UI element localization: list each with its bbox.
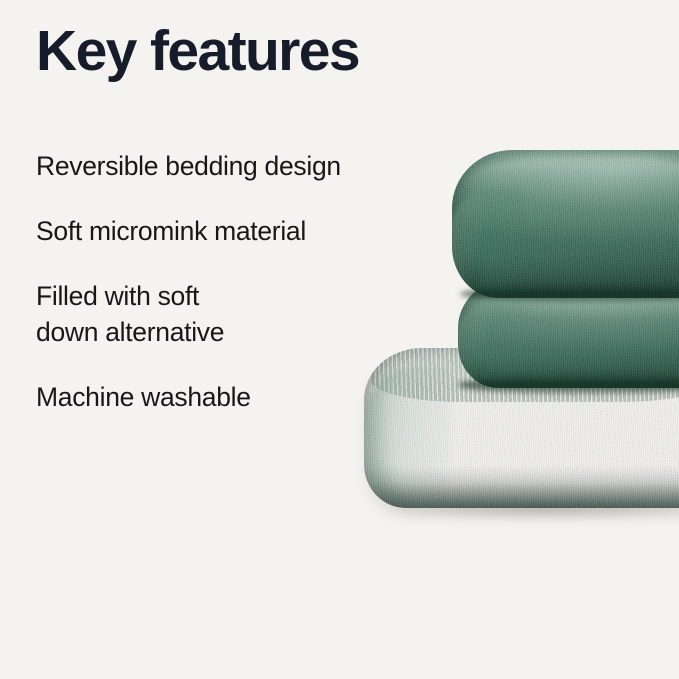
feature-item: Reversible bedding design — [36, 148, 436, 184]
key-features-infographic: Key features Reversible bedding design S… — [0, 0, 679, 679]
feature-line: Filled with soft — [36, 278, 436, 314]
bottom-shading — [364, 466, 679, 508]
feature-line: Machine washable — [36, 379, 436, 415]
fold-left-edge — [452, 188, 525, 298]
feature-list: Reversible bedding design Soft micromink… — [36, 148, 436, 444]
page-title: Key features — [36, 22, 359, 82]
feature-line: Soft micromink material — [36, 213, 436, 249]
feature-item: Soft micromink material — [36, 213, 436, 249]
feature-line: Reversible bedding design — [36, 148, 436, 184]
feature-item: Machine washable — [36, 379, 436, 415]
feature-item: Filled with soft down alternative — [36, 278, 436, 350]
feature-line: down alternative — [36, 314, 436, 350]
blanket-top-layer — [452, 150, 679, 298]
fold-left-edge — [458, 300, 524, 388]
